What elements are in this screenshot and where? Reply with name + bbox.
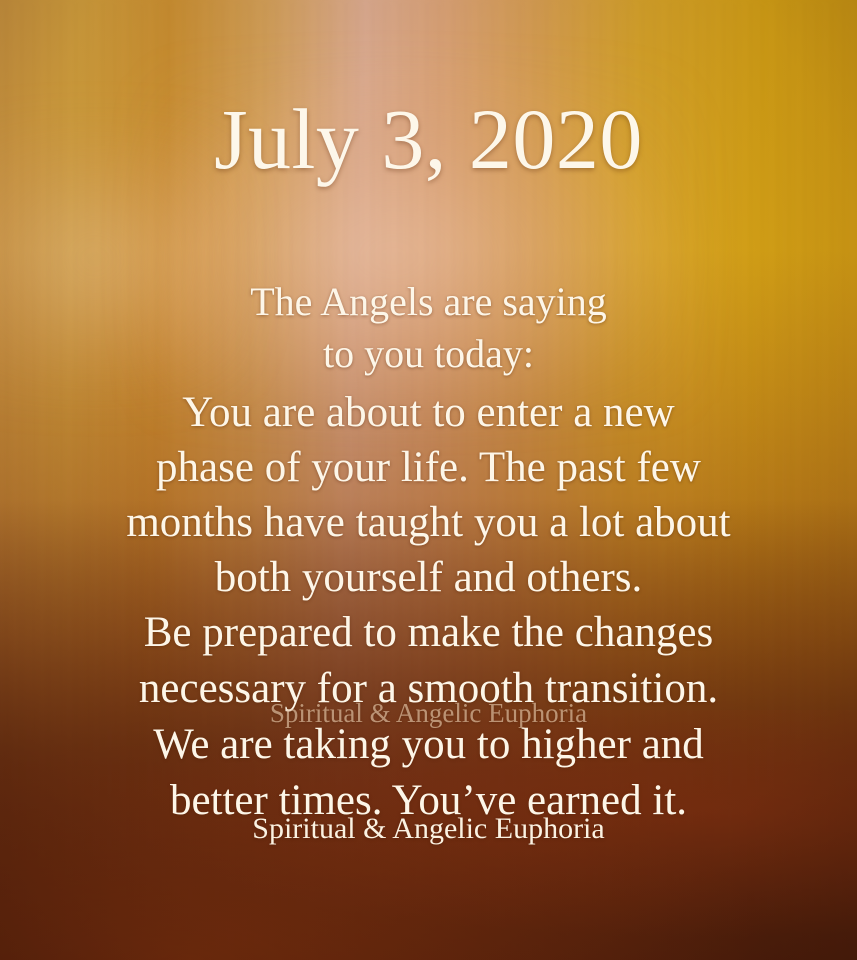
poster-content: July 3, 2020 The Angels are saying to yo… (0, 0, 857, 960)
body-line: phase of your life. The past few (0, 440, 857, 495)
lead-line: to you today: (0, 328, 857, 380)
lead-in-text: The Angels are saying to you today: (0, 276, 857, 380)
poster-date-title: July 3, 2020 (0, 96, 857, 182)
watermark-credit: Spiritual & Angelic Euphoria (0, 698, 857, 728)
attribution-credit: Spiritual & Angelic Euphoria (0, 812, 857, 846)
message-body-text: You are about to enter a new phase of yo… (0, 385, 857, 605)
body-line: months have taught you a lot about (0, 495, 857, 550)
body-line: both yourself and others. (0, 550, 857, 605)
body-line: You are about to enter a new (0, 385, 857, 440)
closing-line: Be prepared to make the changes (0, 605, 857, 661)
quote-poster: July 3, 2020 The Angels are saying to yo… (0, 0, 857, 960)
lead-line: The Angels are saying (0, 276, 857, 328)
